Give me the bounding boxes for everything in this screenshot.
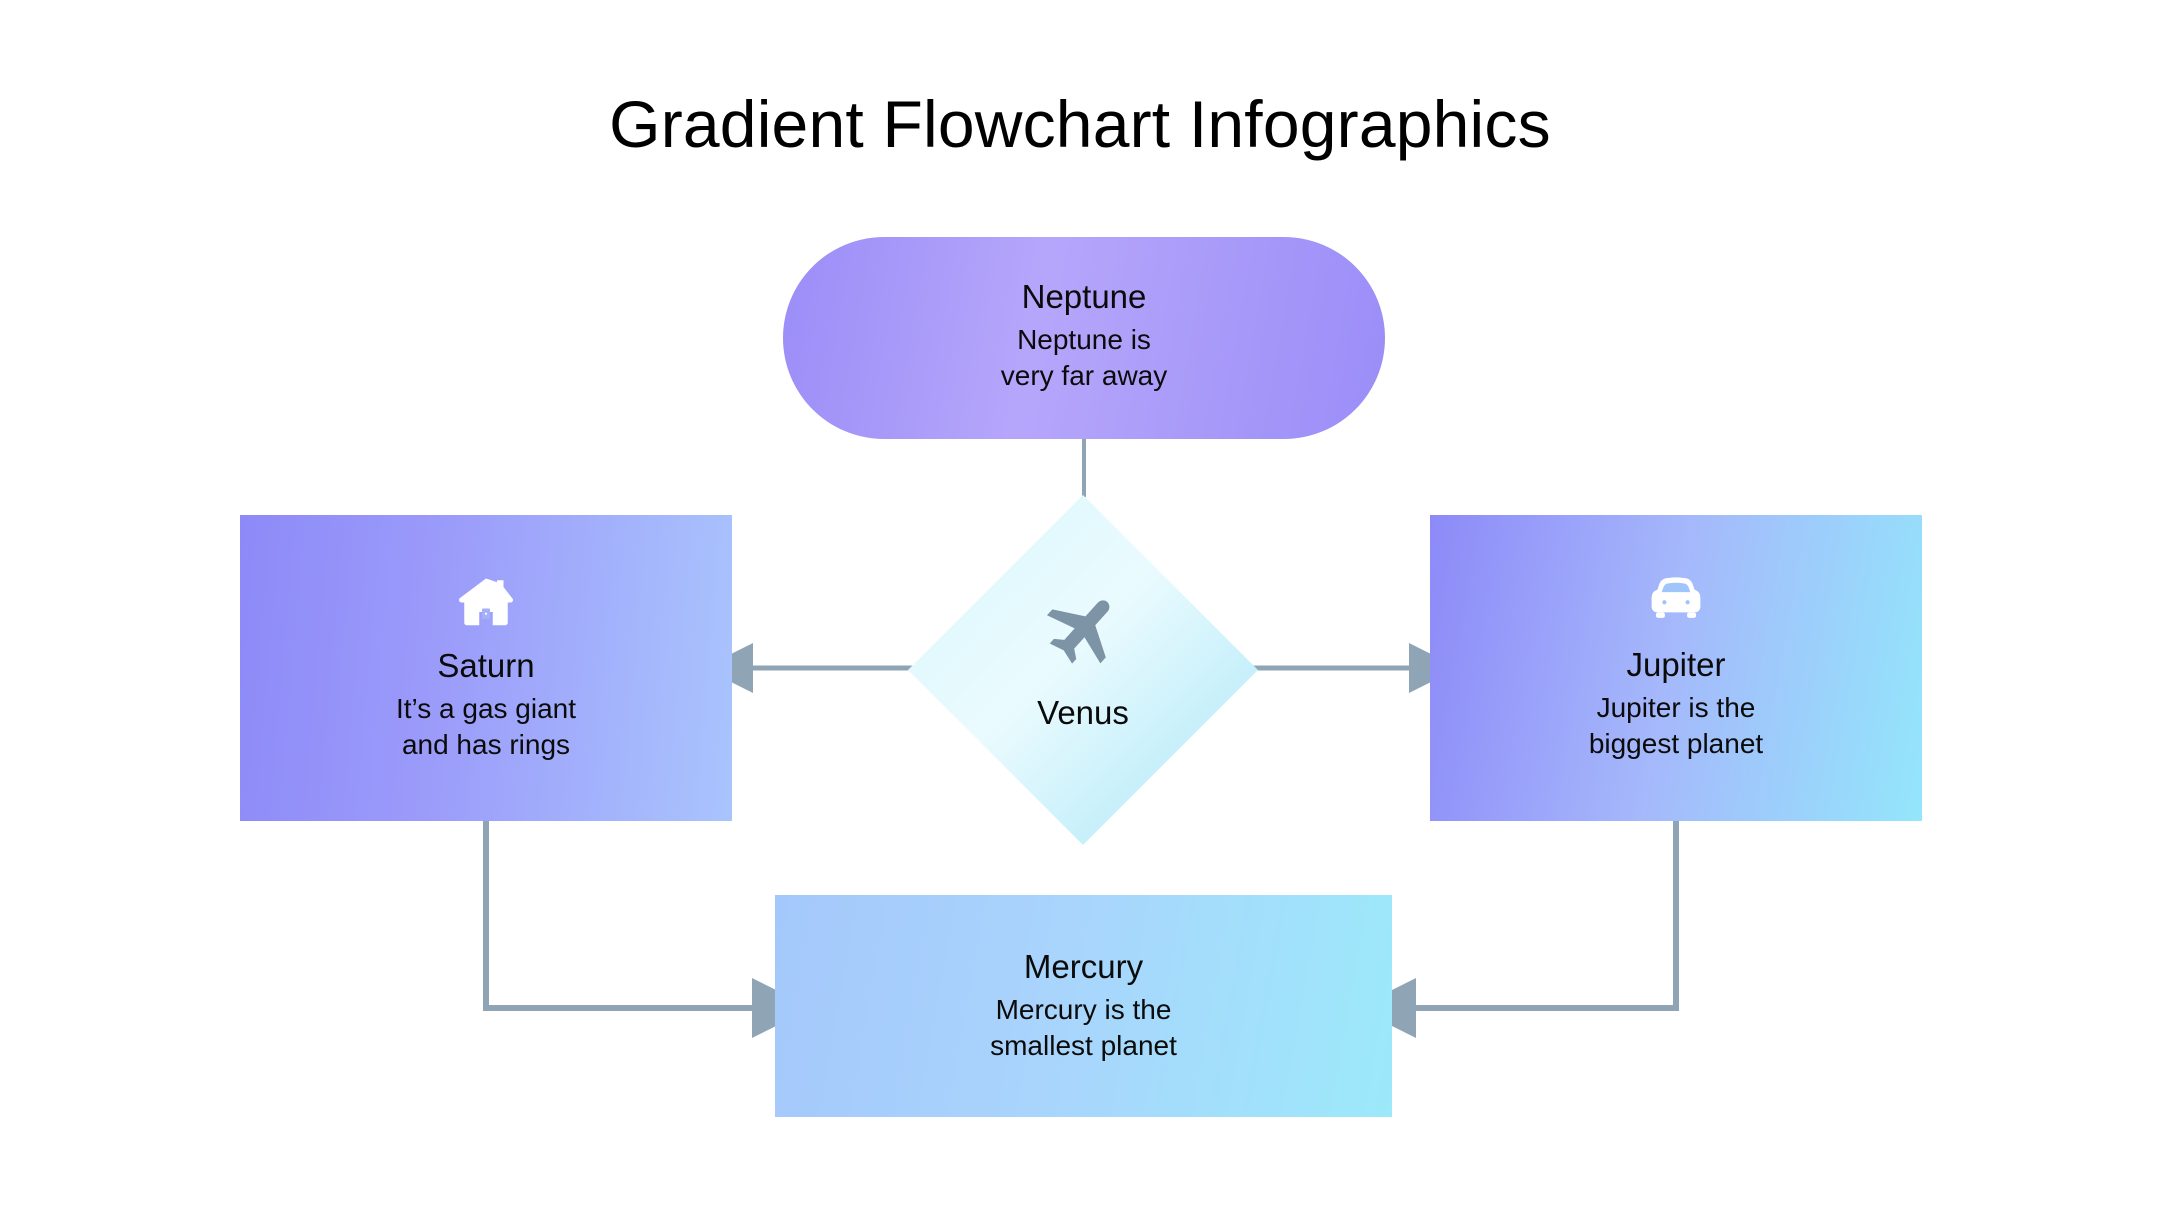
house-icon [453,572,519,632]
node-venus-title: Venus [1037,693,1129,733]
node-neptune-description: Neptune is very far away [1001,322,1168,395]
airplane-icon [1039,585,1127,673]
node-jupiter-title: Jupiter [1626,645,1725,685]
car-icon [1641,573,1711,631]
node-jupiter[interactable]: Jupiter Jupiter is the biggest planet [1430,515,1922,821]
slide-canvas: Gradient Flowchart Infographics Neptune … [0,0,2160,1215]
edge-jupiter-to-mercury [1410,821,1676,1008]
node-mercury-title: Mercury [1024,947,1143,987]
edge-saturn-to-mercury [486,821,758,1008]
node-saturn-title: Saturn [437,646,534,686]
node-saturn[interactable]: Saturn It’s a gas giant and has rings [240,515,732,821]
node-neptune-title: Neptune [1022,277,1147,317]
node-mercury[interactable]: Mercury Mercury is the smallest planet [775,895,1392,1117]
node-saturn-description: It’s a gas giant and has rings [396,691,576,764]
node-mercury-description: Mercury is the smallest planet [990,992,1177,1065]
node-neptune[interactable]: Neptune Neptune is very far away [783,237,1385,439]
node-jupiter-description: Jupiter is the biggest planet [1589,690,1763,763]
